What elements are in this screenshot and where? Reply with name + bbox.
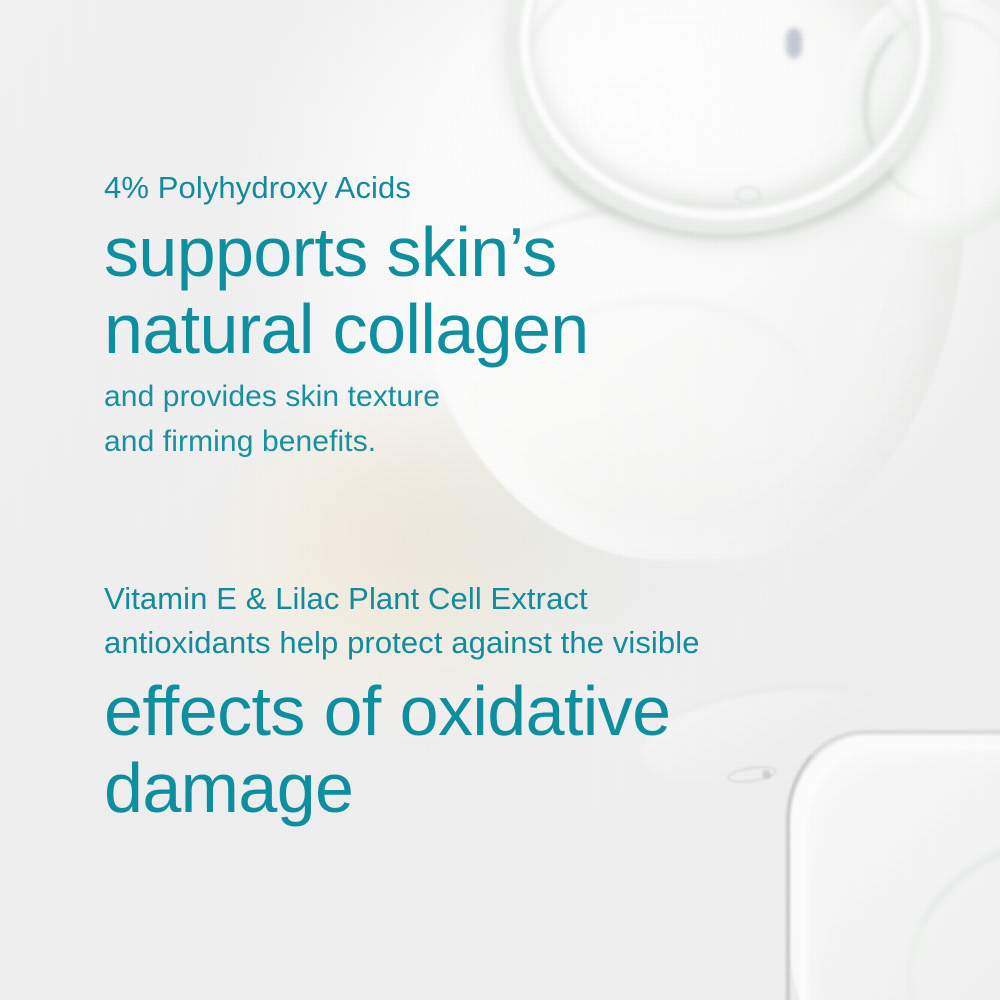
oxidative-headline: effects of oxidative damage: [104, 673, 700, 827]
oxidative-intro-line-1: Vitamin E & Lilac Plant Cell Extract: [104, 577, 700, 621]
oxidative-headline-line-2: damage: [104, 750, 700, 827]
collagen-headline-line-2: natural collagen: [104, 291, 589, 368]
marketing-graphic: 4% Polyhydroxy Acids supports skin’s nat…: [0, 0, 1000, 1000]
benefit-block-oxidative: Vitamin E & Lilac Plant Cell Extract ant…: [104, 577, 700, 827]
collagen-body-line-2: and firming benefits.: [104, 419, 589, 464]
oxidative-headline-line-1: effects of oxidative: [104, 673, 700, 750]
collagen-body-line-1: and provides skin texture: [104, 374, 589, 419]
collagen-headline: supports skin’s natural collagen: [104, 214, 589, 368]
collagen-headline-line-1: supports skin’s: [104, 214, 589, 291]
collagen-body: and provides skin texture and firming be…: [104, 374, 589, 464]
oxidative-intro-line-2: antioxidants help protect against the vi…: [104, 621, 700, 665]
text-content: 4% Polyhydroxy Acids supports skin’s nat…: [0, 0, 1000, 1000]
collagen-intro-line: 4% Polyhydroxy Acids: [104, 166, 589, 210]
oxidative-intro: Vitamin E & Lilac Plant Cell Extract ant…: [104, 577, 700, 665]
benefit-block-collagen: 4% Polyhydroxy Acids supports skin’s nat…: [104, 166, 589, 464]
